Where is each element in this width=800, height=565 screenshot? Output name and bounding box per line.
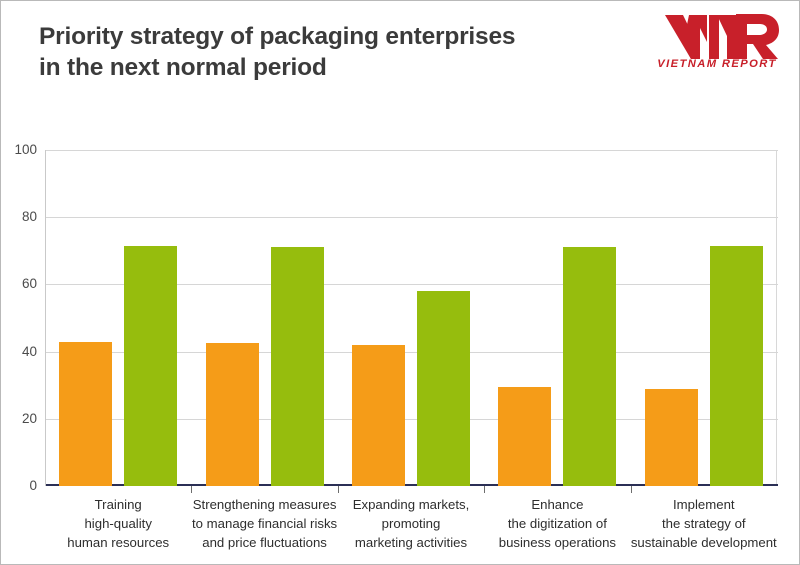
y-axis-tick-label: 60	[1, 277, 37, 291]
y-axis-labels: 020406080100	[1, 150, 45, 486]
chart-header: Priority strategy of packaging enterpris…	[1, 1, 800, 121]
vietnam-report-logo: VIETNAM REPORT	[655, 13, 779, 75]
bar-series-2-1	[271, 247, 324, 486]
x-axis-category-label-2: Expanding markets, promoting marketing a…	[330, 495, 492, 552]
y-axis-tick-label: 20	[1, 412, 37, 426]
gridline-100	[46, 150, 778, 151]
bar-series-1-1	[206, 343, 259, 486]
x-axis-labels: Training high-quality human resourcesStr…	[1, 495, 800, 565]
bar-series-1-2	[352, 345, 405, 486]
y-axis-tick-label: 100	[1, 143, 37, 157]
page-title: Priority strategy of packaging enterpris…	[39, 21, 639, 83]
gridline-80	[46, 217, 778, 218]
bar-series-2-4	[710, 246, 763, 486]
bar-series-2-0	[124, 246, 177, 486]
vnr-logo-icon	[663, 13, 779, 59]
bar-series-2-3	[563, 247, 616, 486]
y-axis-tick-label: 40	[1, 345, 37, 359]
x-axis-tick	[484, 486, 485, 493]
y-axis-tick-label: 80	[1, 210, 37, 224]
x-axis-category-label-3: Enhance the digitization of business ope…	[476, 495, 638, 552]
x-axis-tick	[338, 486, 339, 493]
bar-series-1-4	[645, 389, 698, 486]
x-axis-category-label-4: Implement the strategy of sustainable de…	[623, 495, 785, 552]
bar-series-2-2	[417, 291, 470, 486]
y-axis-tick-label: 0	[1, 479, 37, 493]
x-axis-tick	[631, 486, 632, 493]
x-axis-category-label-1: Strengthening measures to manage financi…	[183, 495, 345, 552]
bar-series-1-3	[498, 387, 551, 486]
bar-series-1-0	[59, 342, 112, 486]
x-axis-category-label-0: Training high-quality human resources	[37, 495, 199, 552]
x-axis-tick	[191, 486, 192, 493]
logo-subtitle: VIETNAM REPORT	[655, 58, 779, 70]
chart-page: Priority strategy of packaging enterpris…	[0, 0, 800, 565]
chart-plot-area	[45, 150, 777, 486]
